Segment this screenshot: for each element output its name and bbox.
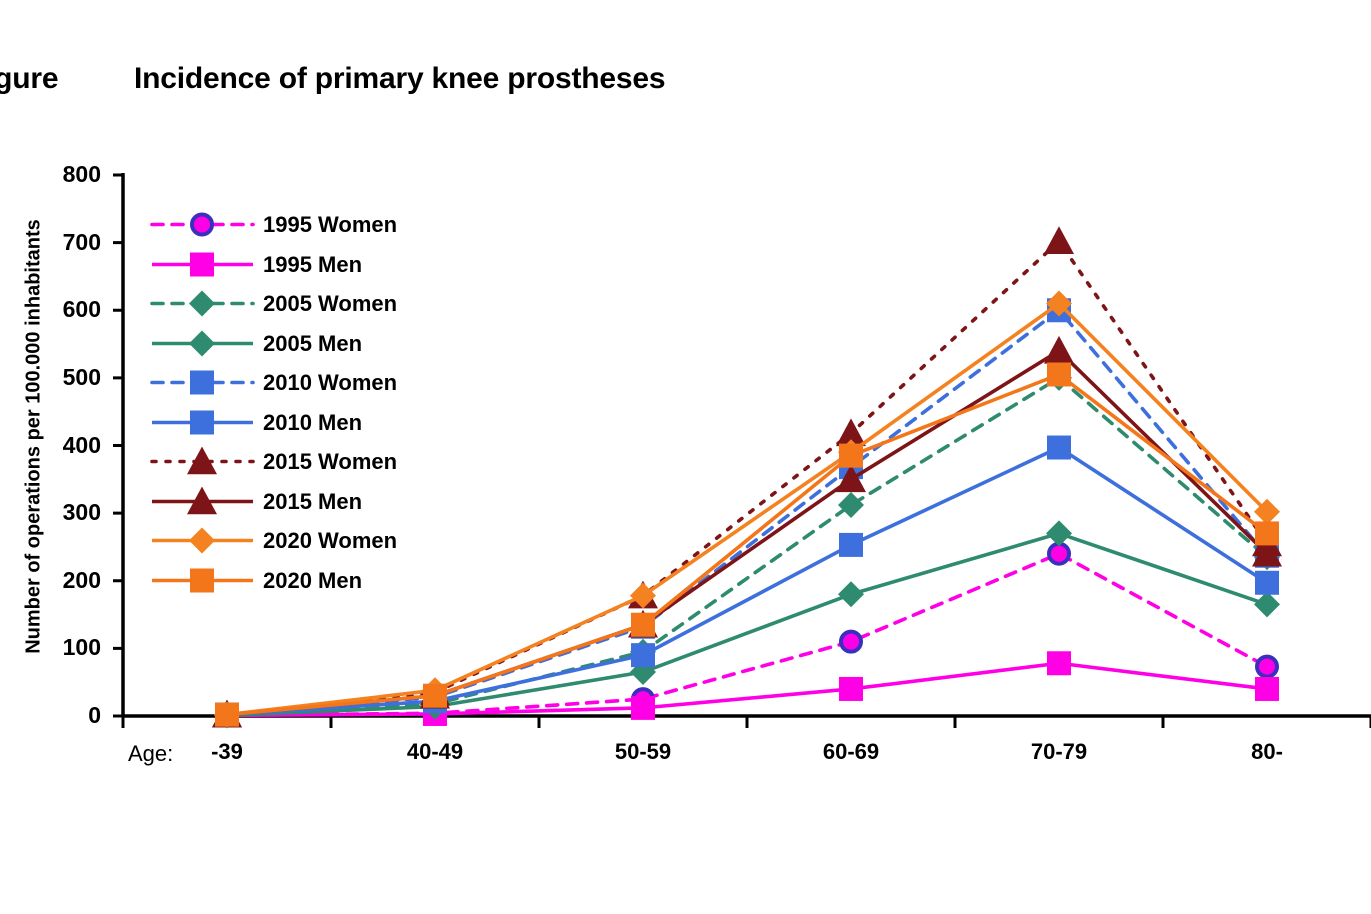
data-point-marker (631, 696, 655, 720)
data-point-marker (1257, 657, 1277, 677)
legend-label: 2005 Women (263, 284, 397, 323)
legend-item[interactable]: 2010 Men (150, 403, 480, 442)
data-point-marker (839, 677, 863, 701)
y-tick-label: 100 (31, 636, 101, 659)
data-point-marker (1044, 226, 1074, 254)
y-tick-label: 600 (31, 298, 101, 321)
data-point-marker (192, 215, 212, 235)
y-tick-label: 500 (31, 366, 101, 389)
legend-label: 2020 Women (263, 521, 397, 560)
legend-swatch (150, 363, 255, 402)
legend-swatch (150, 284, 255, 323)
legend-label: 2015 Men (263, 482, 362, 521)
legend-label: 2005 Men (263, 324, 362, 363)
chart-legend: 1995 Women1995 Men2005 Women2005 Men2010… (150, 205, 480, 605)
legend-swatch (150, 521, 255, 560)
data-point-marker (190, 252, 214, 276)
x-tick-label: 50-59 (573, 741, 713, 763)
data-point-marker (190, 371, 214, 395)
legend-item[interactable]: 2010 Women (150, 363, 480, 402)
legend-item[interactable]: 2020 Women (150, 521, 480, 560)
data-point-marker (215, 703, 239, 727)
x-tick-label: 60-69 (781, 741, 921, 763)
y-tick-label: 400 (31, 434, 101, 457)
data-point-marker (839, 444, 863, 468)
legend-item[interactable]: 2015 Women (150, 442, 480, 481)
legend-label: 1995 Women (263, 205, 397, 244)
legend-swatch (150, 561, 255, 600)
data-point-marker (1046, 520, 1072, 546)
legend-swatch (150, 205, 255, 244)
legend-item[interactable]: 2015 Men (150, 482, 480, 521)
data-point-marker (189, 528, 215, 554)
legend-item[interactable]: 1995 Men (150, 245, 480, 284)
y-tick-label: 200 (31, 569, 101, 592)
legend-item[interactable]: 2005 Women (150, 284, 480, 323)
data-point-marker (838, 492, 864, 518)
data-point-marker (1049, 544, 1069, 564)
legend-label: 2020 Men (263, 561, 362, 600)
data-point-marker (1254, 591, 1280, 617)
data-point-marker (1047, 651, 1071, 675)
data-point-marker (190, 568, 214, 592)
data-point-marker (1255, 677, 1279, 701)
data-point-marker (1255, 571, 1279, 595)
legend-item[interactable]: 2020 Men (150, 561, 480, 600)
data-point-marker (189, 291, 215, 317)
legend-label: 2015 Women (263, 442, 397, 481)
legend-item[interactable]: 2005 Men (150, 324, 480, 363)
legend-swatch (150, 403, 255, 442)
x-tick-label: -39 (157, 741, 297, 763)
y-tick-label: 700 (31, 231, 101, 254)
figure-root: igure Incidence of primary knee prosthes… (0, 0, 1371, 914)
data-point-marker (839, 533, 863, 557)
x-tick-label: 80- (1197, 741, 1337, 763)
data-point-marker (1044, 336, 1074, 364)
data-point-marker (631, 613, 655, 637)
data-point-marker (841, 632, 861, 652)
y-tick-label: 800 (31, 163, 101, 186)
data-point-marker (1047, 362, 1071, 386)
y-tick-label: 300 (31, 501, 101, 524)
data-point-marker (1255, 521, 1279, 545)
data-point-marker (190, 410, 214, 434)
data-point-marker (631, 643, 655, 667)
legend-label: 2010 Women (263, 363, 397, 402)
legend-swatch (150, 324, 255, 363)
legend-item[interactable]: 1995 Women (150, 205, 480, 244)
legend-swatch (150, 442, 255, 481)
x-tick-label: 40-49 (365, 741, 505, 763)
data-point-marker (1047, 436, 1071, 460)
y-tick-label: 0 (31, 704, 101, 727)
legend-swatch (150, 482, 255, 521)
x-tick-label: 70-79 (989, 741, 1129, 763)
data-point-marker (423, 684, 447, 708)
legend-label: 2010 Men (263, 403, 362, 442)
legend-swatch (150, 245, 255, 284)
legend-label: 1995 Men (263, 245, 362, 284)
data-point-marker (838, 581, 864, 607)
data-point-marker (189, 330, 215, 356)
